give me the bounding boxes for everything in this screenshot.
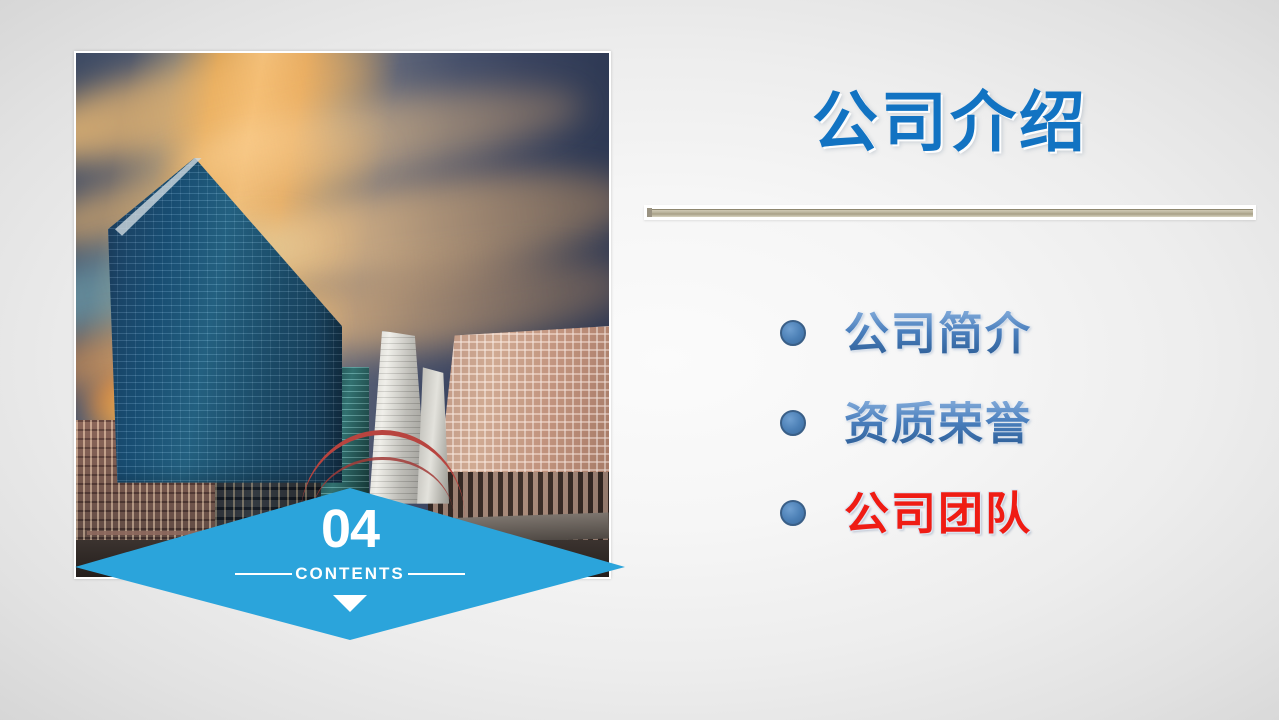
agenda-item-label: 资质荣誉 (844, 401, 1032, 446)
title-divider-bar (647, 209, 1253, 217)
title-divider (644, 205, 1256, 220)
title-divider-cap (647, 208, 652, 217)
agenda-item-label: 公司简介 (844, 311, 1032, 356)
page-title: 公司介绍 (644, 88, 1256, 157)
bullet-dot-icon (780, 410, 806, 436)
bullet-dot-icon (780, 500, 806, 526)
list-item[interactable]: 资质荣誉 (780, 378, 1220, 468)
list-item[interactable]: 公司简介 (780, 288, 1220, 378)
agenda-item-label: 公司团队 (844, 491, 1032, 536)
bullet-dot-icon (780, 320, 806, 346)
slide-canvas: 04 CONTENTS 公司介绍 公司简介 资质荣誉 公司团队 (0, 0, 1279, 720)
list-item[interactable]: 公司团队 (780, 468, 1220, 558)
agenda-list: 公司简介 资质荣誉 公司团队 (780, 288, 1220, 558)
